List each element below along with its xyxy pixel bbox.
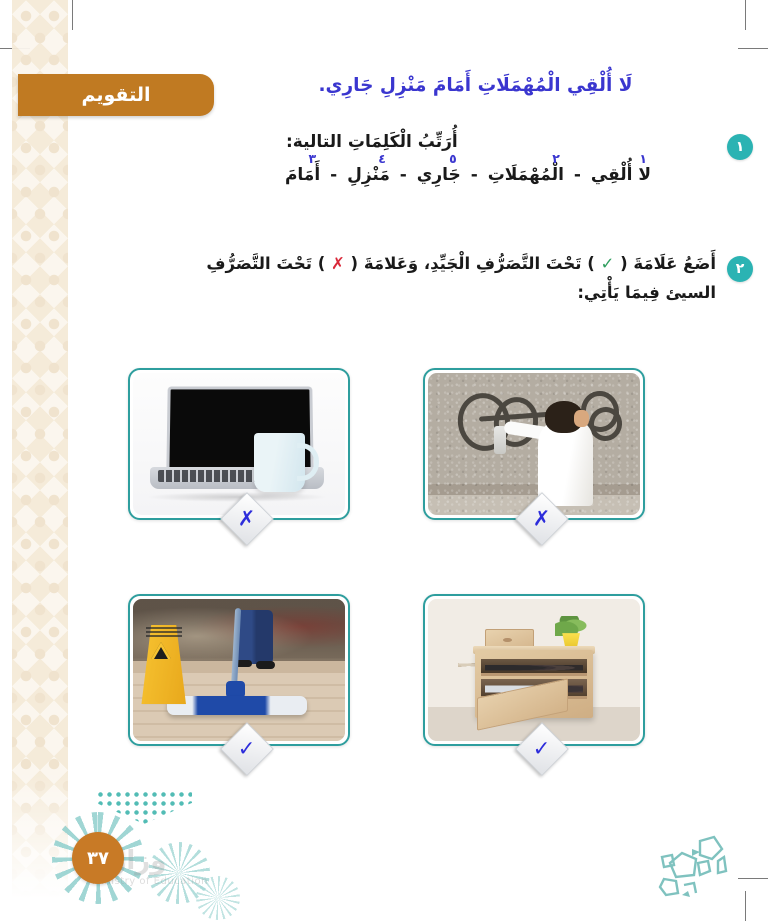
word-item: ٥ جَارِي: [417, 165, 461, 185]
question-2-prompt: أَضَعُ عَلَامَةَ ( ✓ ) تَحْتَ التَّصَرُّ…: [141, 250, 716, 308]
crop-mark-bottom-right-vertical: [745, 891, 746, 921]
check-mark-icon: ✓: [601, 254, 615, 273]
photo-boy-spraying-graffiti: [428, 373, 640, 515]
question-badge-2: ٢: [727, 256, 753, 282]
section-tab: التقويم: [18, 74, 214, 116]
decorative-branches: [458, 625, 477, 705]
word-separator: -: [400, 165, 407, 185]
word-label: مَنْزِلِ: [347, 165, 390, 185]
word-label: الْمُهْمَلَاتِ: [488, 165, 564, 185]
photo-frame: [128, 368, 350, 520]
photo-frame: [423, 368, 645, 520]
plant-leaves: [555, 616, 587, 636]
question-1-prompt: أُرَتِّبُ الْكَلِمَاتِ التالية:: [286, 132, 716, 152]
cabinet-shelf-upper: [481, 673, 587, 677]
word-item: ٢ الْمُهْمَلَاتِ: [488, 165, 564, 185]
cross-mark-icon: ✗: [331, 254, 345, 273]
mop-head: [167, 696, 307, 716]
cross-mark-icon: ✗: [533, 509, 551, 530]
cleaner-legs: [235, 610, 273, 664]
section-tab-label: التقويم: [81, 84, 150, 106]
word-separator: -: [574, 165, 581, 185]
question-1-word-list: ١ لا أُلْقِي - ٢ الْمُهْمَلَاتِ - ٥ جَار…: [228, 165, 708, 185]
image-cell-shoe-cabinet[interactable]: [423, 594, 645, 746]
image-cell-laptop-with-mug[interactable]: [128, 368, 350, 520]
question-2-text-part-1: أَضَعُ عَلَامَةَ (: [614, 254, 716, 273]
caution-sign-text: [146, 627, 182, 638]
question-2-text-part-2: ) تَحْتَ التَّصَرُّفِ الْجَيِّدِ، وَعَلا…: [345, 254, 601, 273]
word-separator: -: [471, 165, 478, 185]
corner-geometric-ornament: [648, 827, 734, 897]
boy-face: [574, 410, 589, 427]
word-index: ٤: [378, 151, 386, 166]
page-number: ٣٧: [72, 832, 124, 884]
image-cell-boy-spraying-graffiti[interactable]: [423, 368, 645, 520]
check-mark-icon: ✓: [238, 739, 256, 760]
photo-frame: [423, 594, 645, 746]
cross-mark-icon: ✗: [238, 509, 256, 530]
word-label: أَمَامَ: [285, 165, 320, 185]
word-index: ٢: [552, 151, 560, 166]
word-item: ٤ مَنْزِلِ: [347, 165, 390, 185]
photo-shoe-cabinet: [428, 599, 640, 741]
word-item: ١ لا أُلْقِي: [591, 165, 651, 185]
image-cell-mopping-floor[interactable]: [128, 594, 350, 746]
crop-mark-top-left-vertical: [72, 0, 73, 30]
crop-mark-bottom-right-horizontal: [738, 878, 768, 879]
check-mark-icon: ✓: [533, 739, 551, 760]
warning-triangle-icon: [151, 642, 171, 659]
crop-mark-top-right-horizontal: [738, 48, 768, 49]
answer-image-grid: [0, 362, 768, 782]
word-separator: -: [330, 165, 337, 185]
photo-laptop-with-mug: [133, 373, 345, 515]
mug-icon: [254, 433, 305, 493]
photo-frame: [128, 594, 350, 746]
page-title: لَا أُلْقِي الْمُهْمَلَاتِ أَمَامَ مَنْز…: [223, 72, 728, 100]
word-index: ١: [639, 151, 647, 166]
word-item: ٣ أَمَامَ: [285, 165, 320, 185]
question-2-text-part-3: ) تَحْتَ التَّصَرُّفِ: [206, 254, 331, 273]
photo-mopping-floor: [133, 599, 345, 741]
cleaner-shoe-right: [256, 661, 275, 668]
word-label: لا أُلْقِي: [591, 165, 651, 185]
question-2-prompt-line-2: السيئ فِيمَا يَأْتِي:: [141, 279, 716, 308]
question-badge-1: ١: [727, 134, 753, 160]
shoes-row-upper: [485, 663, 583, 672]
word-index: ٣: [309, 151, 317, 166]
crop-mark-top-right-vertical: [745, 0, 746, 30]
worksheet-page: التقويم لَا أُلْقِي الْمُهْمَلَاتِ أَمَا…: [0, 0, 768, 921]
word-label: جَارِي: [417, 165, 461, 185]
word-index: ٥: [449, 151, 457, 166]
